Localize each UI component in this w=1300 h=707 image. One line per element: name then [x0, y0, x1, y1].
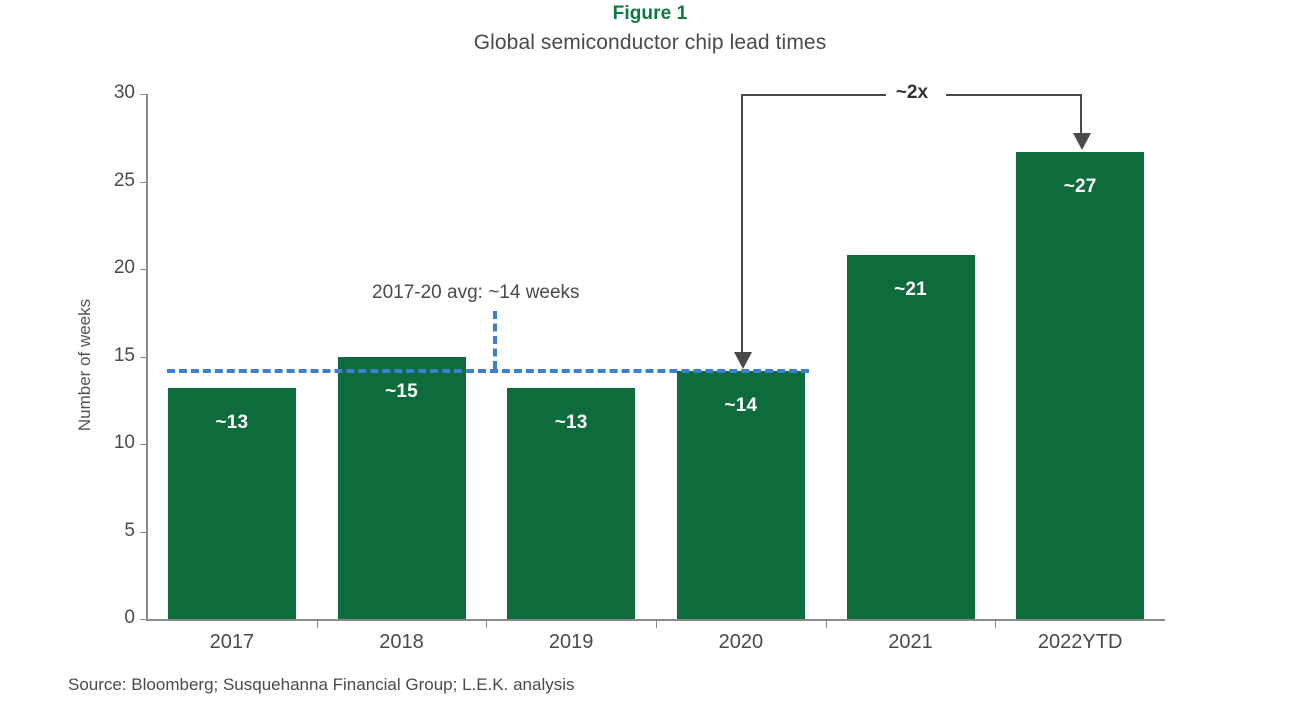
x-tick-mark [317, 621, 318, 628]
x-axis-label-2019: 2019 [486, 631, 656, 654]
bar-value-label: ~13 [507, 412, 635, 434]
x-axis-label-2022YTD: 2022YTD [995, 631, 1165, 654]
y-tick-label: 30 [95, 83, 135, 102]
bar-value-label: ~14 [677, 395, 805, 417]
y-axis-title: Number of weeks [75, 275, 95, 455]
y-tick-label: 15 [95, 346, 135, 365]
y-tick-mark [140, 269, 147, 270]
y-tick-mark [140, 444, 147, 445]
y-tick-mark [140, 182, 147, 183]
annotation-drop-left [741, 94, 743, 353]
x-tick-mark [486, 621, 487, 628]
x-axis-label-2021: 2021 [826, 631, 996, 654]
y-tick-mark [140, 532, 147, 533]
average-line-label: 2017-20 avg: ~14 weeks [372, 282, 580, 304]
chart-plot-area: Number of weeks 051015202530 ~13~15~13~1… [0, 0, 1300, 707]
y-tick-label: 0 [95, 608, 135, 627]
y-tick-label: 5 [95, 521, 135, 540]
bar-2021[interactable] [847, 255, 975, 619]
annotation-label: ~2x [896, 82, 928, 104]
bar-value-label: ~21 [847, 279, 975, 301]
y-tick-label: 25 [95, 171, 135, 190]
bar-value-label: ~15 [338, 381, 466, 403]
average-line-horizontal [167, 369, 809, 373]
x-tick-mark [656, 621, 657, 628]
bar-value-label: ~27 [1016, 176, 1144, 198]
annotation-top-line-left [741, 94, 886, 96]
annotation-drop-right [1080, 94, 1082, 134]
figure-container: Figure 1 Global semiconductor chip lead … [0, 0, 1300, 707]
y-tick-label: 20 [95, 258, 135, 277]
y-tick-mark [140, 94, 147, 95]
x-tick-mark [826, 621, 827, 628]
x-axis-label-2017: 2017 [147, 631, 317, 654]
bar-value-label: ~13 [168, 412, 296, 434]
annotation-arrow-right [1073, 133, 1091, 150]
annotation-top-line-right [946, 94, 1082, 96]
y-tick-mark [140, 619, 147, 620]
y-tick-mark [140, 357, 147, 358]
bar-2022YTD[interactable] [1016, 152, 1144, 619]
x-axis-label-2018: 2018 [317, 631, 487, 654]
x-tick-mark [995, 621, 996, 628]
y-tick-label: 10 [95, 433, 135, 452]
annotation-arrow-left [734, 352, 752, 369]
source-note: Source: Bloomberg; Susquehanna Financial… [68, 675, 575, 695]
average-line-leader [493, 311, 497, 369]
x-axis-label-2020: 2020 [656, 631, 826, 654]
